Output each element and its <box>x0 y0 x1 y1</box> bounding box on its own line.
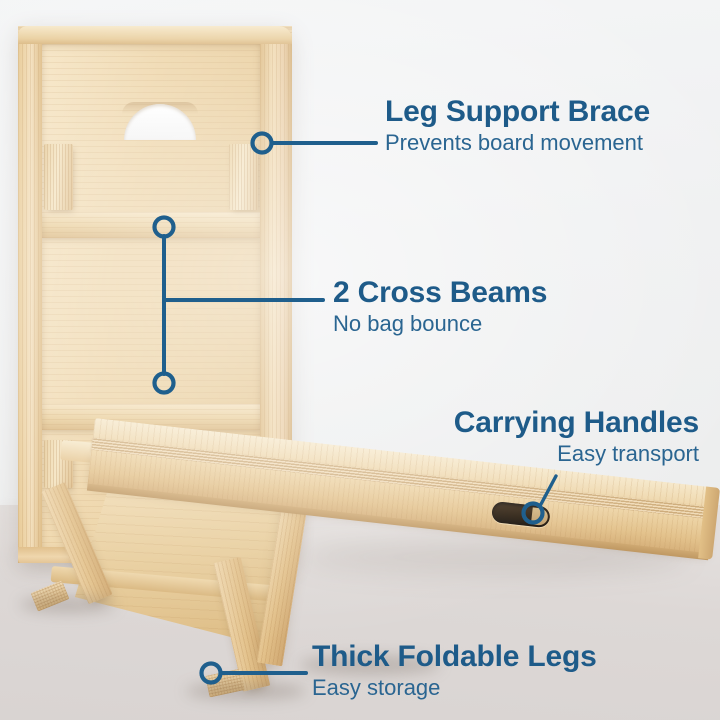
callout-thick-foldable-legs: Thick Foldable Legs Easy storage <box>312 641 597 701</box>
callout-subtitle: No bag bounce <box>333 311 547 337</box>
callout-title: Thick Foldable Legs <box>312 641 597 672</box>
callout-subtitle: Easy storage <box>312 675 597 701</box>
callout-title: 2 Cross Beams <box>333 277 547 308</box>
callout-subtitle: Easy transport <box>262 441 699 467</box>
callout-title: Carrying Handles <box>262 407 699 438</box>
upright-rail-top <box>18 26 292 44</box>
callout-carrying-handles: Carrying Handles Easy transport <box>262 407 699 467</box>
leg-contact-shadow-left <box>20 596 116 613</box>
infographic-stage: Leg Support Brace Prevents board movemen… <box>0 0 720 720</box>
callout-subtitle: Prevents board movement <box>385 130 650 156</box>
upright-rail-left <box>18 26 42 563</box>
callout-cross-beams: 2 Cross Beams No bag bounce <box>333 277 547 337</box>
callout-title: Leg Support Brace <box>385 96 650 127</box>
callout-leg-support-brace: Leg Support Brace Prevents board movemen… <box>385 96 650 156</box>
leg-contact-shadow-front <box>186 682 306 700</box>
